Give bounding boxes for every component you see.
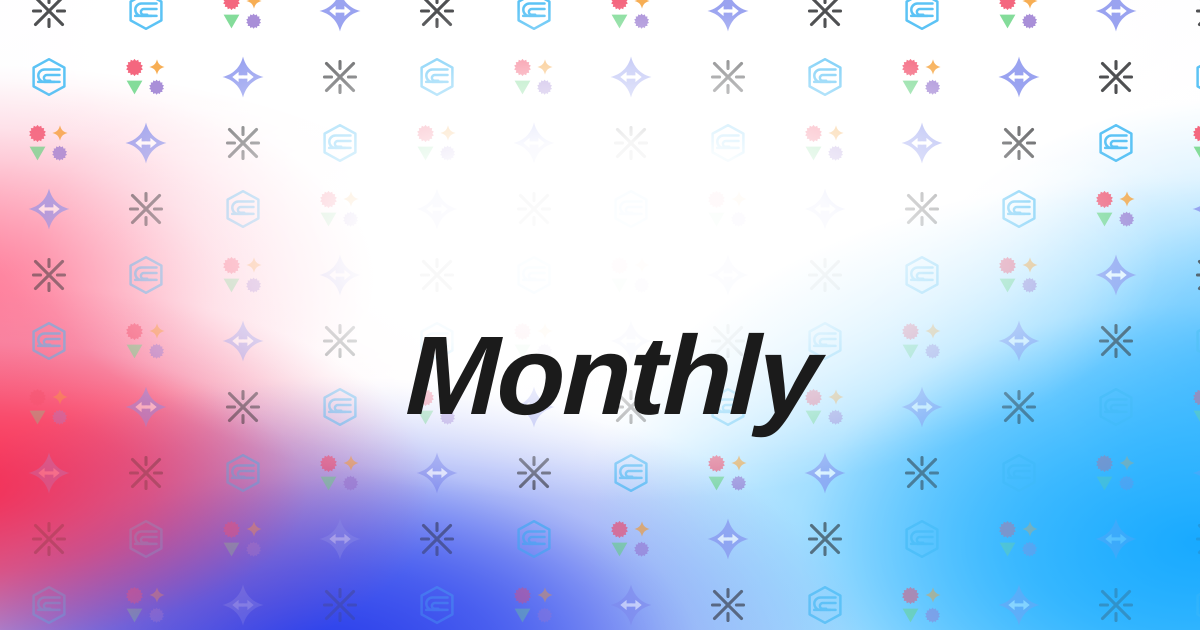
background-base-gradient — [0, 0, 1200, 630]
asterisk-icon — [679, 572, 776, 630]
diamond-code-icon — [679, 0, 776, 44]
hexagon-spiral-icon — [873, 0, 970, 44]
asterisk-icon — [582, 110, 679, 176]
diamond-code-icon — [1164, 440, 1200, 506]
icon-pattern-fade — [0, 0, 1200, 630]
icon-pattern-row — [0, 0, 1200, 44]
shape-cluster-icon — [776, 374, 873, 440]
hexagon-spiral-icon — [776, 572, 873, 630]
diamond-code-icon — [291, 506, 388, 572]
shape-cluster-icon — [970, 506, 1067, 572]
icon-pattern-row — [0, 572, 1200, 630]
hexagon-spiral-icon — [970, 176, 1067, 242]
shape-cluster-icon — [291, 440, 388, 506]
shape-cluster-icon — [485, 44, 582, 110]
asterisk-icon — [291, 44, 388, 110]
hexagon-spiral-icon — [679, 374, 776, 440]
hexagon-spiral-icon — [97, 506, 194, 572]
asterisk-icon — [388, 242, 485, 308]
hexagon-spiral-icon — [873, 242, 970, 308]
shape-cluster-icon — [873, 572, 970, 630]
shape-cluster-icon — [1164, 110, 1200, 176]
icon-pattern-row — [0, 440, 1200, 506]
page-title: Monthly Ecosystem Updates — [294, 96, 906, 630]
shape-cluster-icon — [388, 374, 485, 440]
diamond-code-icon — [388, 176, 485, 242]
background-center-veil — [0, 0, 1200, 630]
background-cyan-bloom — [0, 0, 1200, 630]
shape-cluster-icon — [194, 0, 291, 44]
asterisk-icon — [0, 0, 97, 44]
asterisk-icon — [485, 176, 582, 242]
hexagon-spiral-icon — [970, 440, 1067, 506]
hexagon-spiral-icon — [388, 308, 485, 374]
asterisk-icon — [0, 506, 97, 572]
shape-cluster-icon — [291, 176, 388, 242]
diamond-code-icon — [970, 44, 1067, 110]
diamond-code-icon — [485, 374, 582, 440]
shape-cluster-icon — [97, 44, 194, 110]
diamond-code-icon — [679, 242, 776, 308]
hexagon-spiral-icon — [1067, 374, 1164, 440]
icon-pattern-row — [0, 110, 1200, 176]
icon-pattern-row — [0, 176, 1200, 242]
shape-cluster-icon — [873, 44, 970, 110]
diamond-code-icon — [776, 440, 873, 506]
diamond-code-icon — [873, 374, 970, 440]
shape-cluster-icon — [1067, 440, 1164, 506]
asterisk-icon — [776, 242, 873, 308]
hexagon-spiral-icon — [97, 242, 194, 308]
diamond-code-icon — [485, 110, 582, 176]
hexagon-spiral-icon — [873, 506, 970, 572]
diamond-code-icon — [1164, 176, 1200, 242]
shape-cluster-icon — [873, 308, 970, 374]
hexagon-spiral-icon — [1164, 572, 1200, 630]
asterisk-icon — [97, 440, 194, 506]
asterisk-icon — [776, 506, 873, 572]
hexagon-spiral-icon — [194, 440, 291, 506]
hexagon-spiral-icon — [0, 308, 97, 374]
diamond-code-icon — [582, 572, 679, 630]
diamond-code-icon — [194, 308, 291, 374]
diamond-code-icon — [1067, 0, 1164, 44]
asterisk-icon — [485, 440, 582, 506]
hexagon-spiral-icon — [485, 0, 582, 44]
icon-pattern-row — [0, 374, 1200, 440]
diamond-code-icon — [1067, 506, 1164, 572]
shape-cluster-icon — [776, 110, 873, 176]
asterisk-icon — [582, 374, 679, 440]
diamond-code-icon — [970, 572, 1067, 630]
diamond-code-icon — [776, 176, 873, 242]
asterisk-icon — [1164, 0, 1200, 44]
asterisk-icon — [388, 506, 485, 572]
asterisk-icon — [0, 242, 97, 308]
hexagon-spiral-icon — [679, 110, 776, 176]
asterisk-icon — [873, 176, 970, 242]
hexagon-spiral-icon — [97, 0, 194, 44]
asterisk-icon — [1164, 242, 1200, 308]
asterisk-icon — [970, 374, 1067, 440]
diamond-code-icon — [582, 44, 679, 110]
banner-content: Monthly Ecosystem Updates AUGUST 2025 — [0, 0, 1200, 630]
hexagon-spiral-icon — [0, 44, 97, 110]
shape-cluster-icon — [582, 242, 679, 308]
hexagon-spiral-icon — [1067, 110, 1164, 176]
title-line-1: Monthly — [325, 320, 898, 432]
asterisk-icon — [1067, 572, 1164, 630]
diamond-code-icon — [679, 506, 776, 572]
shape-cluster-icon — [485, 572, 582, 630]
shape-cluster-icon — [679, 440, 776, 506]
diamond-code-icon — [291, 242, 388, 308]
diamond-code-icon — [873, 110, 970, 176]
icon-pattern-row — [0, 308, 1200, 374]
shape-cluster-icon — [0, 110, 97, 176]
shape-cluster-icon — [194, 242, 291, 308]
diamond-code-icon — [194, 572, 291, 630]
shape-cluster-icon — [582, 0, 679, 44]
asterisk-icon — [194, 110, 291, 176]
background-red-bloom — [0, 0, 1200, 630]
diamond-code-icon — [1067, 242, 1164, 308]
asterisk-icon — [291, 308, 388, 374]
icon-pattern-row — [0, 506, 1200, 572]
asterisk-icon — [1067, 44, 1164, 110]
asterisk-icon — [97, 176, 194, 242]
banner: Monthly Ecosystem Updates AUGUST 2025 — [0, 0, 1200, 630]
hexagon-spiral-icon — [194, 176, 291, 242]
diamond-code-icon — [388, 440, 485, 506]
hexagon-spiral-icon — [388, 44, 485, 110]
hexagon-spiral-icon — [776, 44, 873, 110]
asterisk-icon — [388, 0, 485, 44]
shape-cluster-icon — [97, 308, 194, 374]
diamond-code-icon — [291, 0, 388, 44]
icon-pattern — [0, 0, 1200, 630]
asterisk-icon — [776, 0, 873, 44]
shape-cluster-icon — [97, 572, 194, 630]
hexagon-spiral-icon — [0, 572, 97, 630]
asterisk-icon — [194, 374, 291, 440]
diamond-code-icon — [194, 44, 291, 110]
shape-cluster-icon — [679, 176, 776, 242]
background-rose-bloom — [0, 0, 1200, 630]
shape-cluster-icon — [1067, 176, 1164, 242]
asterisk-icon — [970, 110, 1067, 176]
shape-cluster-icon — [582, 506, 679, 572]
background-violet-bloom — [0, 0, 1200, 630]
asterisk-icon — [1067, 308, 1164, 374]
diamond-code-icon — [0, 176, 97, 242]
hexagon-spiral-icon — [582, 176, 679, 242]
shape-cluster-icon — [388, 110, 485, 176]
shape-cluster-icon — [970, 242, 1067, 308]
shape-cluster-icon — [970, 0, 1067, 44]
icon-pattern-row — [0, 44, 1200, 110]
hexagon-spiral-icon — [485, 506, 582, 572]
hexagon-spiral-icon — [291, 374, 388, 440]
icon-pattern-tint — [0, 0, 1200, 630]
asterisk-icon — [873, 440, 970, 506]
background-cyan-edge-bloom — [0, 0, 1200, 630]
diamond-code-icon — [582, 308, 679, 374]
asterisk-icon — [679, 308, 776, 374]
hexagon-spiral-icon — [388, 572, 485, 630]
shape-cluster-icon — [194, 506, 291, 572]
hexagon-spiral-icon — [291, 110, 388, 176]
asterisk-icon — [679, 44, 776, 110]
hexagon-spiral-icon — [1164, 308, 1200, 374]
diamond-code-icon — [970, 308, 1067, 374]
asterisk-icon — [1164, 506, 1200, 572]
hexagon-spiral-icon — [1164, 44, 1200, 110]
icon-pattern-row — [0, 242, 1200, 308]
shape-cluster-icon — [0, 374, 97, 440]
hexagon-spiral-icon — [582, 440, 679, 506]
shape-cluster-icon — [1164, 374, 1200, 440]
hexagon-spiral-icon — [485, 242, 582, 308]
hexagon-spiral-icon — [776, 308, 873, 374]
diamond-code-icon — [97, 110, 194, 176]
shape-cluster-icon — [485, 308, 582, 374]
diamond-code-icon — [0, 440, 97, 506]
asterisk-icon — [291, 572, 388, 630]
diamond-code-icon — [97, 374, 194, 440]
